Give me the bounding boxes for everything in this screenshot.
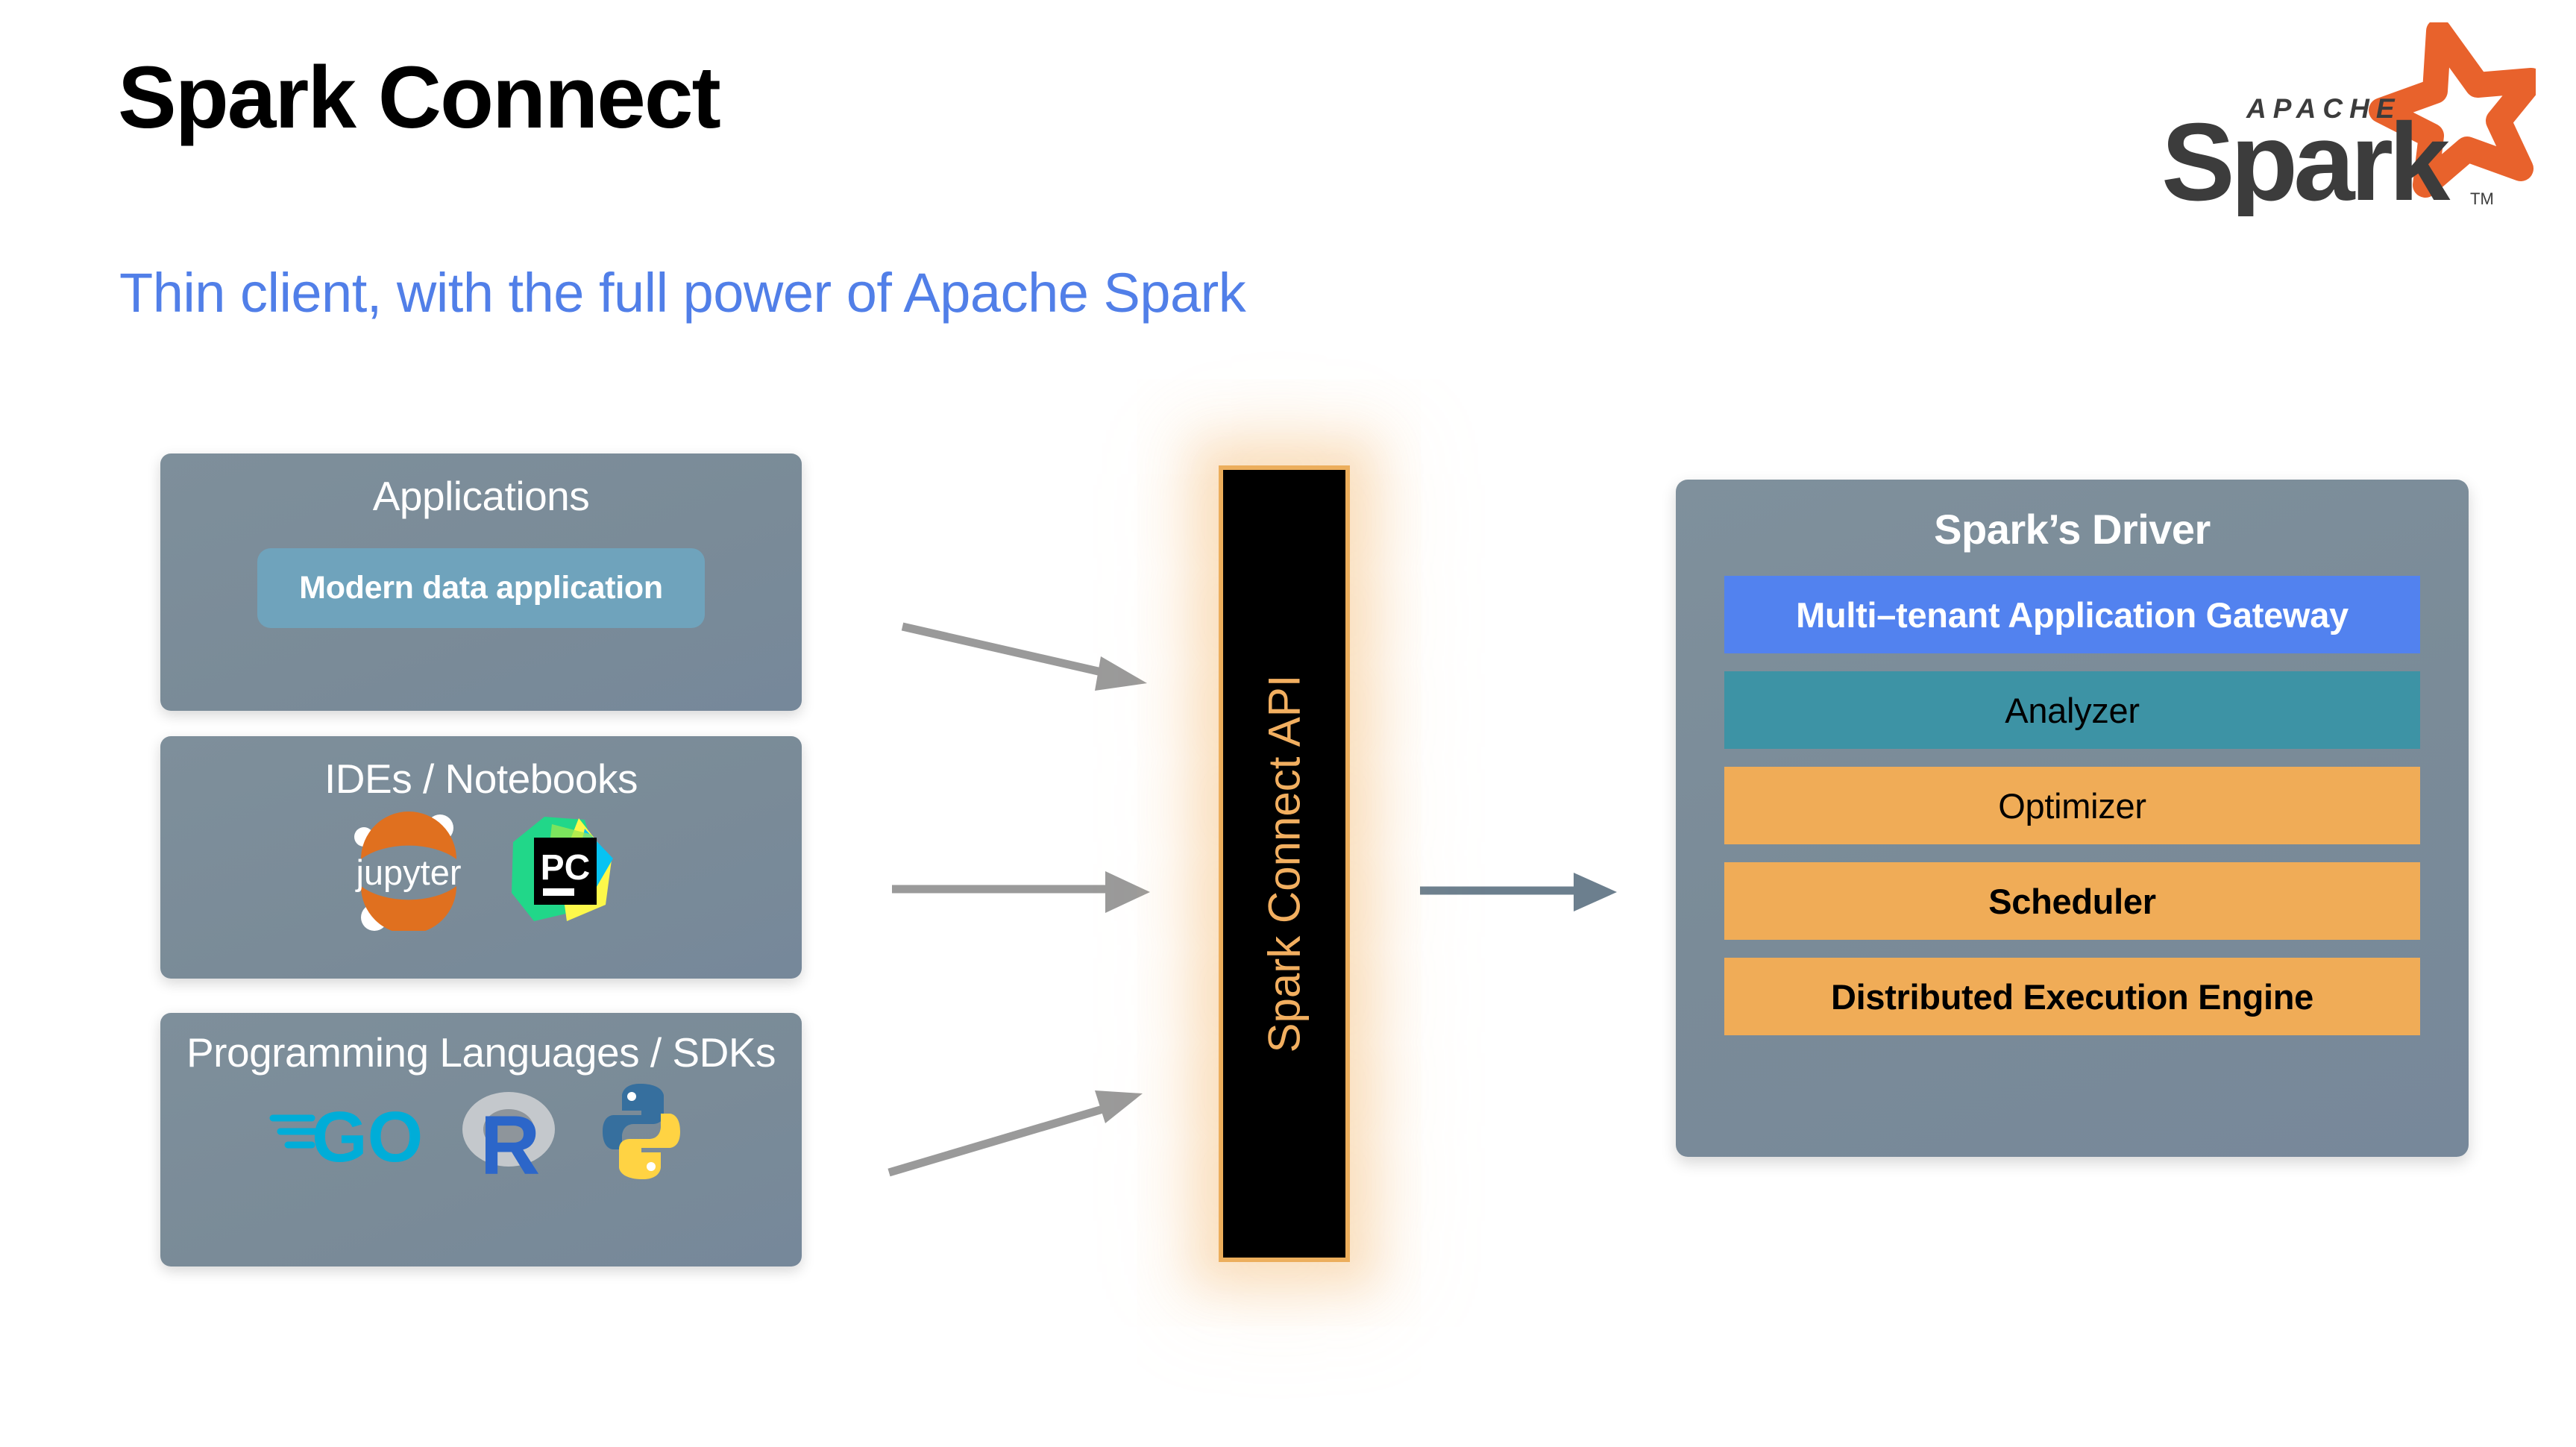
card-applications[interactable]: Applications Modern data application (160, 453, 802, 711)
svg-text:PC: PC (541, 848, 591, 888)
arrow-applications-to-api (888, 612, 1186, 716)
jupyter-logo: jupyter (343, 812, 477, 935)
arrow-languages-to-api (880, 1044, 1193, 1193)
card-applications-title: Applications (160, 453, 802, 520)
ide-logo-row: jupyter PC (160, 812, 802, 935)
driver-row-execution-engine[interactable]: Distributed Execution Engine (1724, 958, 2420, 1035)
pycharm-underscore (543, 888, 574, 896)
spark-driver-panel[interactable]: Spark’s Driver Multi–tenant Application … (1676, 480, 2469, 1157)
spark-connect-api-bar[interactable]: Spark Connect API (1219, 465, 1350, 1262)
r-logo: R (455, 1083, 567, 1184)
page-subtitle: Thin client, with the full power of Apac… (119, 261, 1245, 324)
python-logo (589, 1079, 694, 1187)
svg-text:GO: GO (312, 1097, 423, 1176)
driver-row-scheduler[interactable]: Scheduler (1724, 862, 2420, 940)
go-logo: GO (268, 1087, 433, 1180)
arrow-ides-to-api (888, 858, 1186, 940)
python-eye-bottom (647, 1162, 656, 1171)
language-logo-row: GO R (160, 1079, 802, 1187)
driver-row-list: Multi–tenant Application Gateway Analyze… (1724, 576, 2420, 1035)
page-title: Spark Connect (118, 52, 720, 145)
arrow-api-to-driver (1417, 858, 1671, 940)
card-programming-languages[interactable]: Programming Languages / SDKs GO R (160, 1013, 802, 1266)
driver-row-analyzer[interactable]: Analyzer (1724, 671, 2420, 749)
pycharm-logo: PC (507, 815, 619, 931)
card-ides-title: IDEs / Notebooks (160, 736, 802, 803)
python-eye-top (627, 1092, 636, 1101)
spark-connect-api-label: Spark Connect API (1259, 675, 1310, 1053)
driver-row-optimizer[interactable]: Optimizer (1724, 767, 2420, 844)
svg-text:jupyter: jupyter (354, 853, 461, 892)
modern-data-application-chip[interactable]: Modern data application (257, 548, 705, 628)
svg-text:TM: TM (2470, 189, 2494, 208)
card-ides-notebooks[interactable]: IDEs / Notebooks jupyter PC (160, 736, 802, 979)
go-speed-lines (273, 1118, 315, 1145)
svg-text:R: R (480, 1099, 541, 1180)
spark-driver-title: Spark’s Driver (1676, 480, 2469, 553)
svg-text:Spark: Spark (2161, 101, 2451, 216)
driver-row-gateway[interactable]: Multi–tenant Application Gateway (1724, 576, 2420, 653)
apache-spark-logo: APACHE Spark TM (2133, 22, 2536, 216)
card-languages-title: Programming Languages / SDKs (160, 1013, 802, 1076)
